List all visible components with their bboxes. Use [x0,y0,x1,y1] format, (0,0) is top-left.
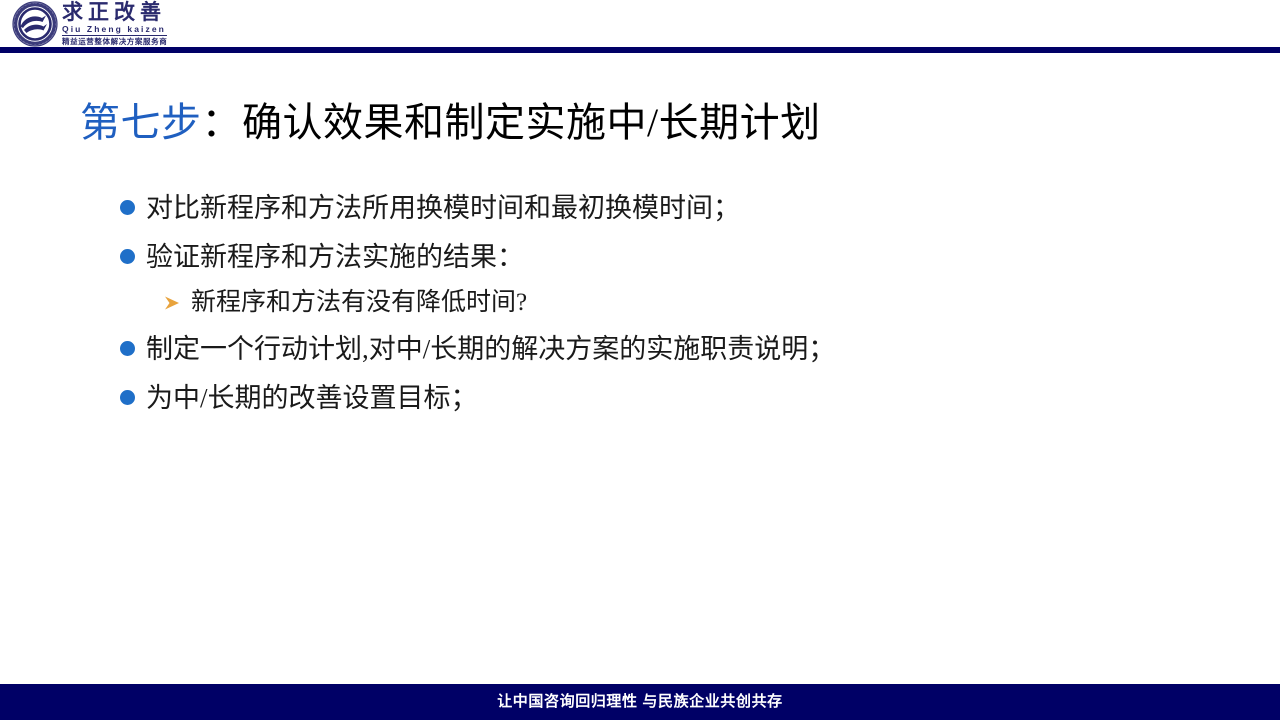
filled-circle-bullet-icon [120,390,135,405]
arrow-right-bullet-icon [164,286,181,320]
list-item-label: 为中/长期的改善设置目标； [146,378,478,418]
list-item: 对比新程序和方法所用换模时间和最初换模时间； [120,188,1180,228]
slide-footer: 让中国咨询回归理性 与民族企业共创共存 [0,684,1280,720]
page-title-main: 确认效果和制定实施中/长期计划 [242,100,821,145]
footer-slogan: 让中国咨询回归理性 与民族企业共创共存 [0,684,1280,720]
logo-company-name-cn: 求正改善 [62,1,167,24]
list-item: 为中/长期的改善设置目标； [120,378,1180,418]
filled-circle-bullet-icon [120,341,135,356]
list-item: 制定一个行动计划,对中/长期的解决方案的实施职责说明； [120,329,1180,369]
filled-circle-bullet-icon [120,200,135,215]
header-divider-bar [0,47,1280,53]
list-item: 验证新程序和方法实施的结果： [120,237,1180,277]
list-item-label: 对比新程序和方法所用换模时间和最初换模时间； [146,188,740,228]
list-item-label: 验证新程序和方法实施的结果： [146,237,524,277]
logo-company-name-en: Qiu Zheng kaizen [62,24,167,36]
qiuzheng-circular-logo-icon [12,1,58,47]
sub-list-item: 新程序和方法有没有降低时间? [164,286,1180,320]
content-list: 对比新程序和方法所用换模时间和最初换模时间； 验证新程序和方法实施的结果： 新程… [120,188,1180,427]
page-title-separator: ： [202,100,243,145]
list-item-label: 制定一个行动计划,对中/长期的解决方案的实施职责说明； [146,329,835,369]
sub-list-item-label: 新程序和方法有没有降低时间? [191,286,527,320]
logo-text-block: 求正改善 Qiu Zheng kaizen 精益运营整体解决方案服务商 [62,1,167,47]
page-title: 第七步：确认效果和制定实施中/长期计划 [80,99,821,147]
slide-header: 求正改善 Qiu Zheng kaizen 精益运营整体解决方案服务商 [0,0,1280,47]
logo-tagline: 精益运营整体解决方案服务商 [62,36,167,47]
slide: 求正改善 Qiu Zheng kaizen 精益运营整体解决方案服务商 第七步：… [0,0,1280,720]
page-title-step: 第七步 [80,100,202,145]
company-logo: 求正改善 Qiu Zheng kaizen 精益运营整体解决方案服务商 [12,1,167,47]
filled-circle-bullet-icon [120,249,135,264]
